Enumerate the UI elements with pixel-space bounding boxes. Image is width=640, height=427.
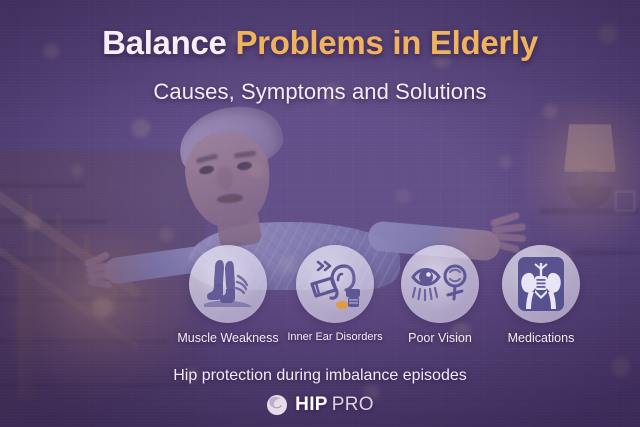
page-subtitle: Causes, Symptoms and Solutions: [0, 79, 640, 105]
cause-label: Inner Ear Disorders: [283, 331, 387, 343]
causes-icon-row: Muscle Weakness: [0, 245, 640, 350]
cause-label: Muscle Weakness: [176, 331, 280, 345]
brand-name-light: PRO: [332, 394, 374, 415]
cause-item-inner-ear-disorders[interactable]: Inner Ear Disorders: [283, 245, 387, 343]
cause-item-muscle-weakness[interactable]: Muscle Weakness: [176, 245, 280, 345]
ear-soundwaves-icon: [296, 245, 374, 323]
pelvis-xray-icon: [502, 245, 580, 323]
sphere-crescent-logo-icon: [266, 394, 288, 416]
tagline: Hip protection during imbalance episodes: [0, 367, 640, 385]
walking-legs-icon: [189, 245, 267, 323]
cause-item-medications[interactable]: Medications: [489, 245, 593, 345]
title-white-part: Balance: [102, 24, 226, 61]
cause-label: Poor Vision: [388, 331, 492, 345]
cause-item-poor-vision[interactable]: Poor Vision: [388, 245, 492, 345]
brand-name: HIPPRO: [295, 394, 374, 416]
page-title: Balance Problems in Elderly: [0, 24, 640, 62]
brand-name-bold: HIP: [295, 394, 328, 415]
title-gold-part: Problems in Elderly: [235, 24, 537, 61]
poster-canvas: Balance Problems in Elderly Causes, Symp…: [0, 0, 640, 427]
brand-lockup: HIPPRO: [0, 394, 640, 416]
cause-label: Medications: [489, 331, 593, 345]
eye-rays-icon: [401, 245, 479, 323]
poster-content: Balance Problems in Elderly Causes, Symp…: [0, 0, 640, 427]
